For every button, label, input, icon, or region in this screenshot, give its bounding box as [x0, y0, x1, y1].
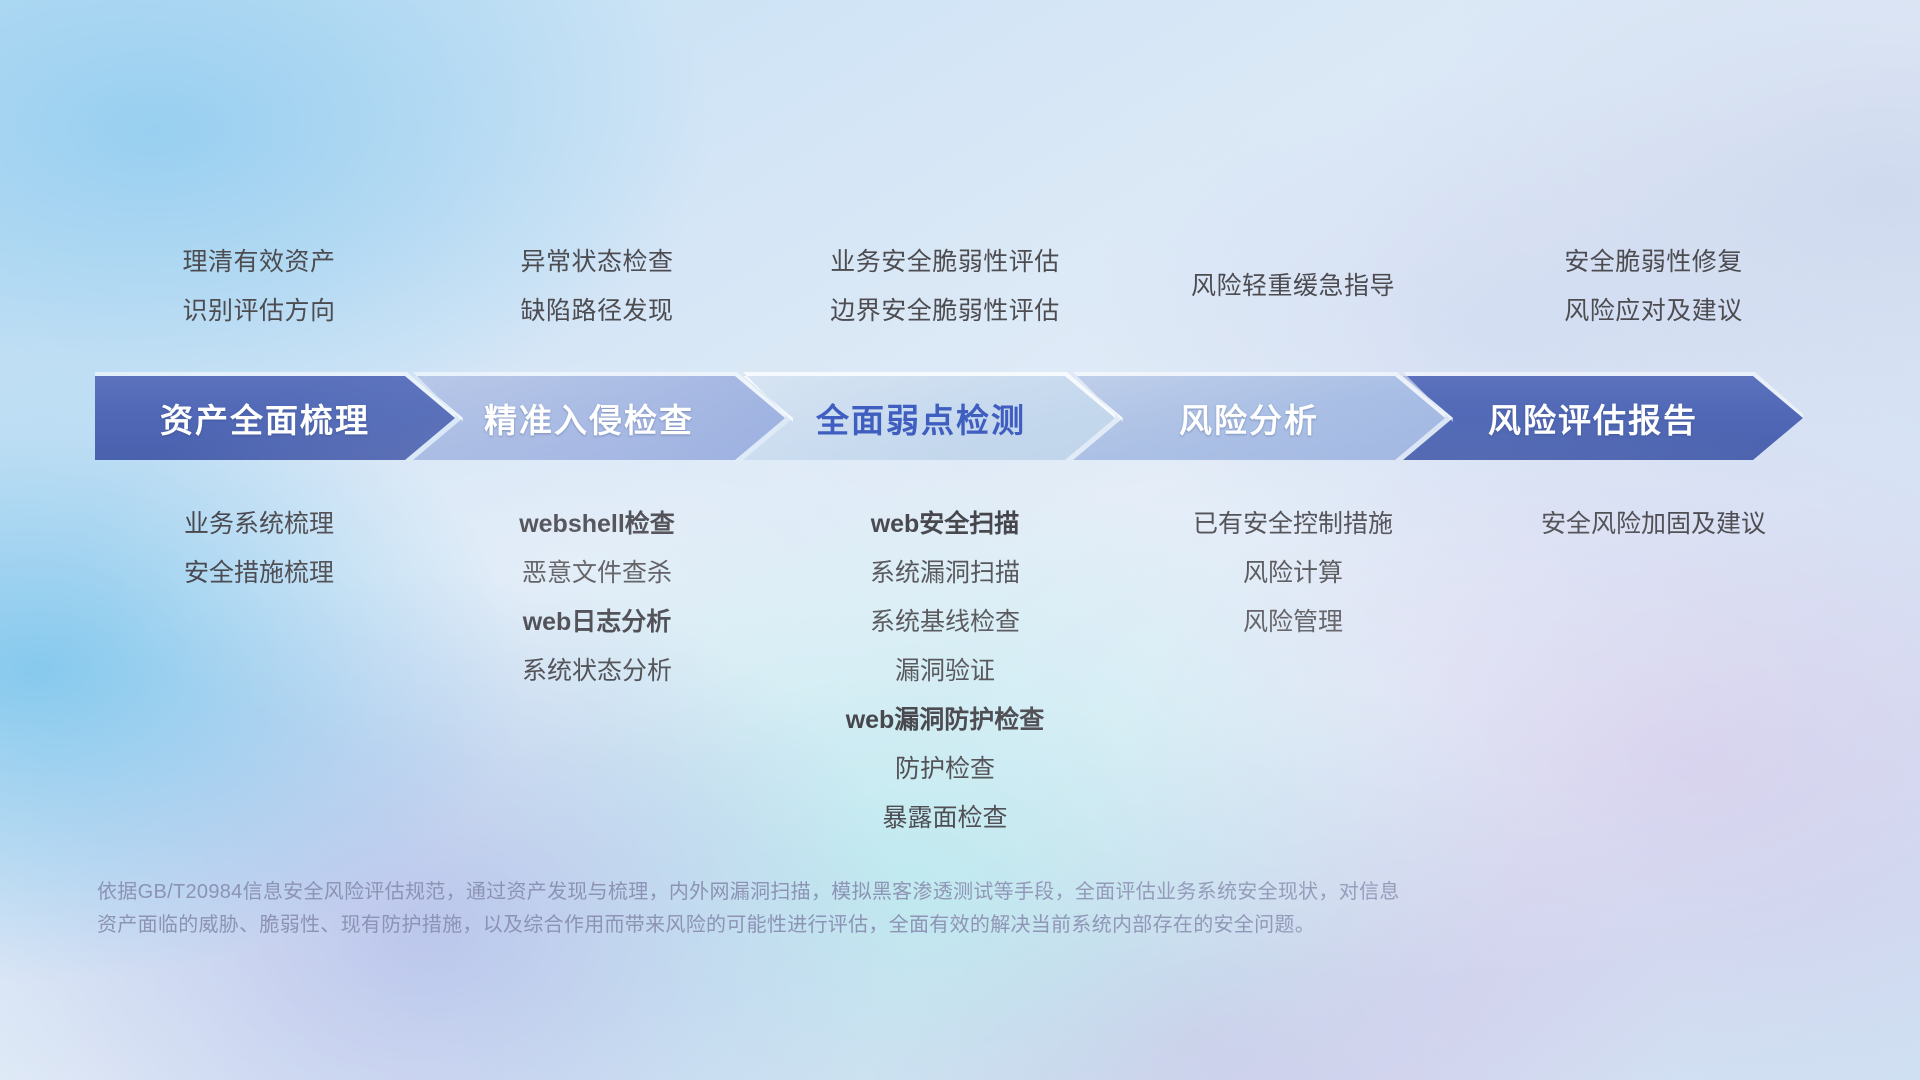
chevron-label: 精准入侵检查	[484, 394, 694, 442]
list-item: web安全扫描	[771, 500, 1119, 549]
chevron-label: 风险分析	[1179, 394, 1319, 442]
list-item: 系统状态分析	[423, 647, 771, 696]
list-item: web日志分析	[423, 598, 771, 647]
caption-text: 理清有效资产	[95, 238, 423, 287]
caption-text: 风险轻重缓急指导	[1119, 262, 1467, 311]
caption-text: 异常状态检查	[423, 238, 771, 287]
top-captions-stage-3: 业务安全脆弱性评估 边界安全脆弱性评估	[771, 238, 1119, 336]
caption-text: 业务安全脆弱性评估	[771, 238, 1119, 287]
caption-text: 边界安全脆弱性评估	[771, 287, 1119, 336]
footer-line-2: 资产面临的威胁、脆弱性、现有防护措施，以及综合作用而带来风险的可能性进行评估，全…	[97, 909, 1657, 942]
list-item: webshell检查	[423, 500, 771, 549]
list-item: 漏洞验证	[771, 647, 1119, 696]
chevron-stage-4[interactable]: 风险分析	[1073, 372, 1445, 464]
items-stage-5: 安全风险加固及建议	[1467, 500, 1840, 549]
items-stage-4: 已有安全控制措施 风险计算 风险管理	[1119, 500, 1467, 647]
top-captions-stage-5: 安全脆弱性修复 风险应对及建议	[1467, 238, 1840, 336]
diagram-canvas: 理清有效资产 识别评估方向 异常状态检查 缺陷路径发现 业务安全脆弱性评估 边界…	[0, 0, 1920, 1080]
list-item: 业务系统梳理	[95, 500, 423, 549]
list-item: 恶意文件查杀	[423, 549, 771, 598]
chevron-label: 全面弱点检测	[816, 394, 1026, 442]
items-stage-3: web安全扫描 系统漏洞扫描 系统基线检查 漏洞验证 web漏洞防护检查 防护检…	[771, 500, 1119, 843]
caption-text: 风险应对及建议	[1467, 287, 1840, 336]
chevron-stage-1[interactable]: 资产全面梳理	[95, 372, 455, 464]
chevron-stage-2[interactable]: 精准入侵检查	[413, 372, 785, 464]
items-stage-1: 业务系统梳理 安全措施梳理	[95, 500, 423, 598]
list-item: 防护检查	[771, 745, 1119, 794]
footer-description: 依据GB/T20984信息安全风险评估规范，通过资产发现与梳理，内外网漏洞扫描，…	[97, 876, 1657, 942]
top-caption-row: 理清有效资产 识别评估方向 异常状态检查 缺陷路径发现 业务安全脆弱性评估 边界…	[95, 238, 1840, 336]
list-item: 暴露面检查	[771, 794, 1119, 843]
chevron-stage-5[interactable]: 风险评估报告	[1403, 372, 1803, 464]
top-captions-stage-4: 风险轻重缓急指导	[1119, 238, 1467, 311]
footer-line-1: 依据GB/T20984信息安全风险评估规范，通过资产发现与梳理，内外网漏洞扫描，…	[97, 876, 1657, 909]
list-item: 系统漏洞扫描	[771, 549, 1119, 598]
list-item: 已有安全控制措施	[1119, 500, 1467, 549]
list-item: 安全风险加固及建议	[1467, 500, 1840, 549]
caption-text: 识别评估方向	[95, 287, 423, 336]
process-chevron-band: 资产全面梳理 精准入侵检查	[95, 372, 1855, 464]
caption-text: 安全脆弱性修复	[1467, 238, 1840, 287]
caption-text: 缺陷路径发现	[423, 287, 771, 336]
chevron-label: 风险评估报告	[1488, 394, 1698, 442]
bottom-item-row: 业务系统梳理 安全措施梳理 webshell检查 恶意文件查杀 web日志分析 …	[95, 500, 1840, 843]
top-captions-stage-1: 理清有效资产 识别评估方向	[95, 238, 423, 336]
top-captions-stage-2: 异常状态检查 缺陷路径发现	[423, 238, 771, 336]
list-item: 安全措施梳理	[95, 549, 423, 598]
list-item: 风险管理	[1119, 598, 1467, 647]
list-item: 系统基线检查	[771, 598, 1119, 647]
chevron-stage-3[interactable]: 全面弱点检测	[743, 372, 1115, 464]
list-item: 风险计算	[1119, 549, 1467, 598]
chevron-label: 资产全面梳理	[160, 394, 370, 442]
items-stage-2: webshell检查 恶意文件查杀 web日志分析 系统状态分析	[423, 500, 771, 696]
list-item: web漏洞防护检查	[771, 696, 1119, 745]
